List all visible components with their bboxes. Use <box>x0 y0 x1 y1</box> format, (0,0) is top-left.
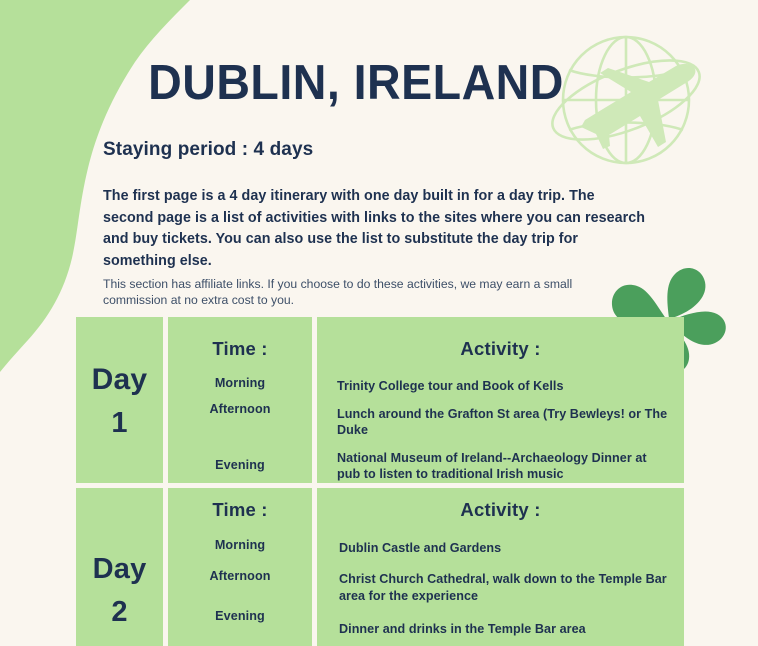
table-row: Day 2 Time : Morning Afternoon Evening A… <box>76 488 684 646</box>
time-item: Evening <box>168 609 312 623</box>
time-item: Morning <box>168 376 312 390</box>
activity-column-header: Activity : <box>317 499 684 521</box>
time-item: Afternoon <box>168 402 312 416</box>
intro-paragraph: The first page is a 4 day itinerary with… <box>103 186 648 272</box>
time-item: Morning <box>168 538 312 552</box>
table-row: Day 1 Time : Morning Afternoon Evening A… <box>76 317 684 483</box>
activity-column-cell: Activity : Dublin Castle and Gardens Chr… <box>317 488 684 646</box>
activity-item: Dinner and drinks in the Temple Bar area <box>339 621 670 638</box>
day-number: 1 <box>111 409 127 438</box>
day-label-cell: Day 1 <box>76 317 163 483</box>
time-list: Morning Afternoon Evening <box>168 376 312 472</box>
activity-item: Trinity College tour and Book of Kells <box>337 378 670 395</box>
activity-list: Dublin Castle and Gardens Christ Church … <box>317 540 684 638</box>
time-column-header: Time : <box>168 338 312 360</box>
day-label-cell: Day 2 <box>76 488 163 646</box>
day-word: Day <box>92 365 148 395</box>
time-item: Afternoon <box>168 569 312 583</box>
time-list: Morning Afternoon Evening <box>168 538 312 623</box>
activity-item: Christ Church Cathedral, walk down to th… <box>339 571 670 604</box>
itinerary-page: DUBLIN, IRELAND Staying period : 4 days … <box>0 0 758 646</box>
day-word: Day <box>93 555 147 584</box>
time-column-cell: Time : Morning Afternoon Evening <box>168 317 312 483</box>
staying-period-label: Staying period : 4 days <box>103 139 313 161</box>
affiliate-disclosure: This section has affiliate links. If you… <box>103 276 638 308</box>
page-title: DUBLIN, IRELAND <box>90 58 622 109</box>
time-column-cell: Time : Morning Afternoon Evening <box>168 488 312 646</box>
day-number: 2 <box>111 598 127 627</box>
itinerary-table: Day 1 Time : Morning Afternoon Evening A… <box>76 317 684 646</box>
activity-item: National Museum of Ireland--Archaeology … <box>337 450 670 483</box>
time-column-header: Time : <box>168 499 312 521</box>
time-item: Evening <box>168 458 312 472</box>
activity-column-header: Activity : <box>317 338 684 360</box>
activity-column-cell: Activity : Trinity College tour and Book… <box>317 317 684 483</box>
activity-item: Lunch around the Grafton St area (Try Be… <box>337 406 670 439</box>
activity-list: Trinity College tour and Book of Kells L… <box>317 378 684 483</box>
activity-item: Dublin Castle and Gardens <box>339 540 670 557</box>
